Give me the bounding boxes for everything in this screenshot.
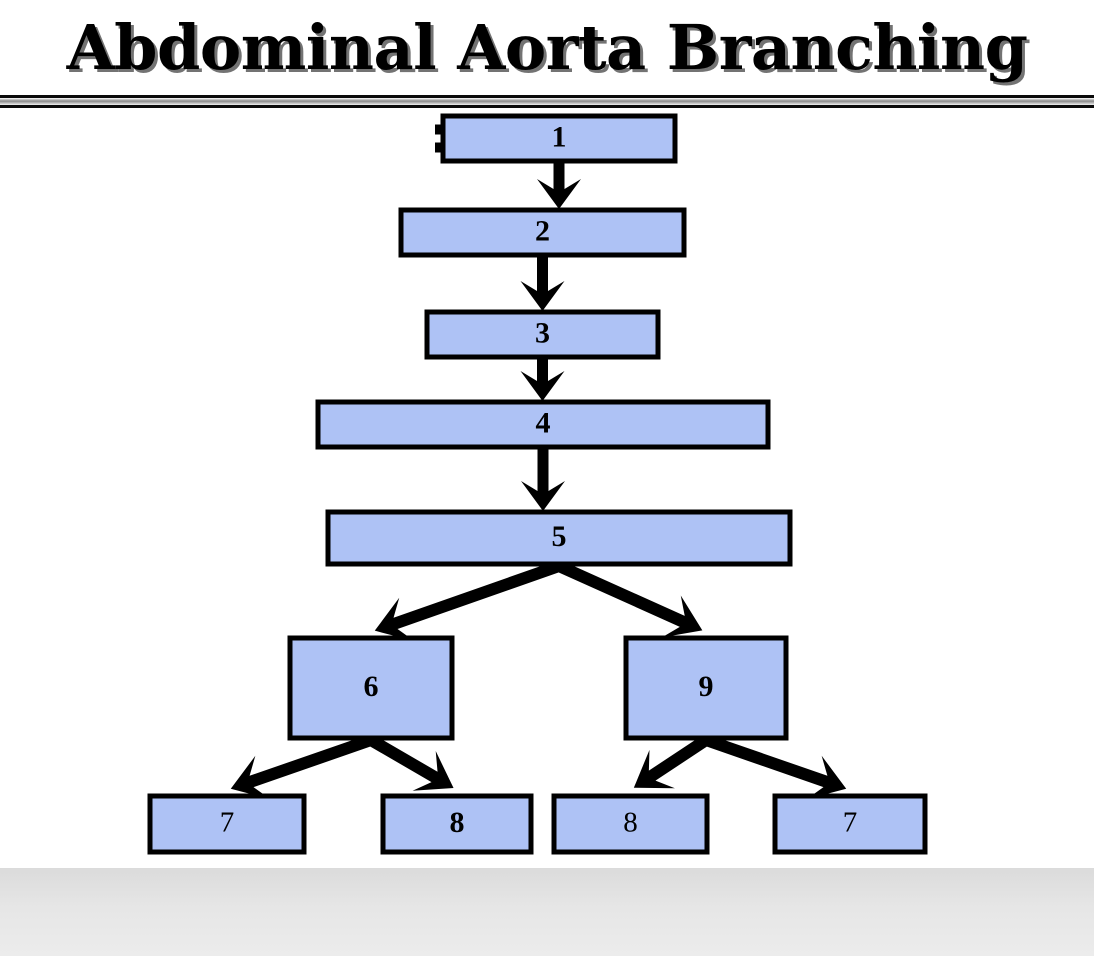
flowchart-node-5[interactable]: 5	[328, 512, 790, 564]
node-label: 3	[535, 316, 550, 349]
flowchart-node-3[interactable]: 3	[427, 312, 658, 357]
node-label: 7	[220, 807, 235, 839]
flowchart-node-7[interactable]: 7	[150, 796, 304, 852]
flowchart-diagram: 12345697887	[0, 108, 1094, 868]
flowchart-node-6[interactable]: 6	[290, 638, 452, 738]
title-divider-bevel-band	[0, 98, 1094, 105]
flowchart-node-4[interactable]: 4	[318, 402, 768, 447]
node-label: 8	[623, 807, 638, 839]
flowchart-node-2[interactable]: 2	[401, 210, 684, 255]
arrow-n5-to-n6	[375, 560, 561, 641]
flowchart-node-8[interactable]: 8	[383, 796, 531, 852]
arrow-n5-to-n9	[557, 561, 703, 638]
page-title: Abdominal Aorta Branching	[67, 17, 1028, 79]
node-resize-handle-1[interactable]	[435, 125, 444, 135]
node-label: 2	[535, 214, 550, 247]
flowchart-node-1[interactable]: 1	[435, 116, 675, 161]
arrow-n1-to-n2	[537, 162, 581, 209]
node-resize-handle-2[interactable]	[435, 143, 444, 153]
arrow-n3-to-n4	[521, 358, 565, 401]
node-label: 8	[450, 806, 465, 839]
arrow-n4-to-n5	[521, 448, 565, 511]
slide-footer-band	[0, 868, 1094, 956]
flowchart-node-9[interactable]: 9	[626, 638, 786, 738]
flowchart-svg: 12345697887	[0, 108, 1094, 868]
node-label: 1	[552, 120, 567, 153]
slide-title-area: Abdominal Aorta Branching	[0, 0, 1094, 96]
arrow-n6-to-n7a	[231, 734, 373, 799]
arrow-n9-to-n8b	[634, 735, 709, 788]
arrow-n2-to-n3	[521, 256, 565, 311]
arrow-n9-to-n7b	[704, 734, 846, 799]
flowchart-node-8[interactable]: 8	[554, 796, 707, 852]
node-label: 7	[843, 807, 858, 839]
flowchart-node-7[interactable]: 7	[775, 796, 925, 852]
title-divider	[0, 95, 1094, 108]
node-label: 5	[552, 520, 567, 553]
node-label: 9	[699, 670, 714, 703]
node-label: 4	[536, 406, 551, 439]
arrow-n6-to-n8a	[368, 735, 454, 791]
node-label: 6	[364, 670, 379, 703]
slide-canvas: Abdominal Aorta Branching 12345697887	[0, 0, 1094, 956]
